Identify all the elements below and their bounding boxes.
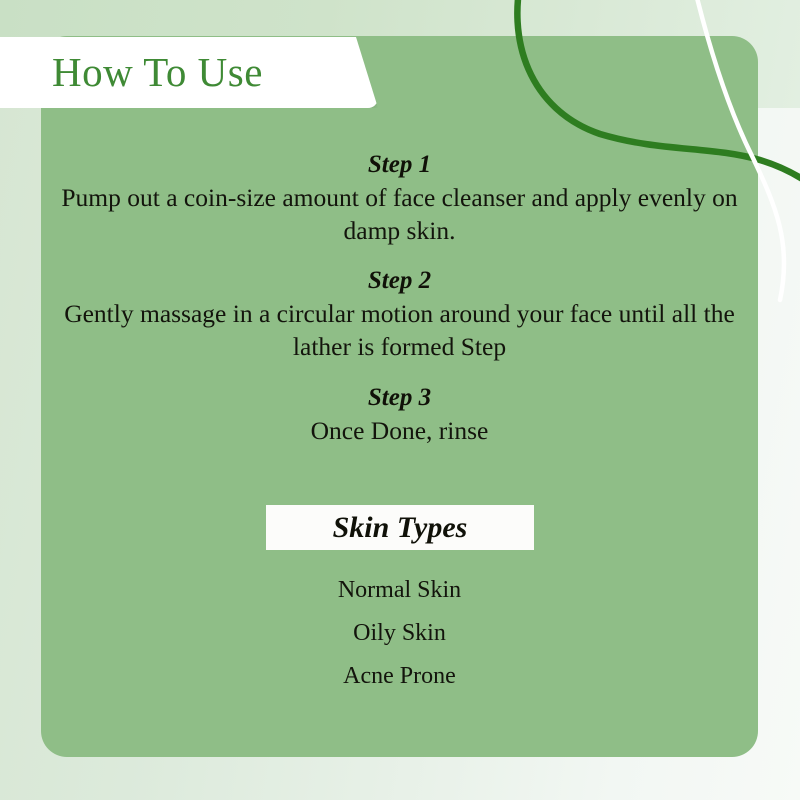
step-item: Step 3 Once Done, rinse (41, 382, 758, 447)
steps-list: Step 1 Pump out a coin-size amount of fa… (41, 149, 758, 447)
skin-types-title: Skin Types (333, 513, 468, 543)
skin-type-item: Acne Prone (41, 664, 758, 688)
card-content: Step 1 Pump out a coin-size amount of fa… (41, 108, 758, 757)
step-body: Once Done, rinse (41, 414, 758, 447)
skin-type-item: Normal Skin (41, 578, 758, 602)
how-to-use-poster: How To Use Step 1 Pump out a coin-size a… (0, 0, 800, 800)
skin-types-list: Normal Skin Oily Skin Acne Prone (41, 578, 758, 688)
step-heading: Step 3 (41, 382, 758, 414)
skin-type-item: Oily Skin (41, 621, 758, 645)
step-item: Step 2 Gently massage in a circular moti… (41, 265, 758, 363)
step-body: Pump out a coin-size amount of face clea… (41, 181, 758, 247)
page-title-banner: How To Use (0, 37, 378, 108)
step-heading: Step 1 (41, 149, 758, 181)
step-heading: Step 2 (41, 265, 758, 297)
page-title: How To Use (52, 52, 263, 93)
step-item: Step 1 Pump out a coin-size amount of fa… (41, 149, 758, 247)
step-body: Gently massage in a circular motion arou… (41, 297, 758, 363)
skin-types-banner: Skin Types (266, 505, 534, 550)
